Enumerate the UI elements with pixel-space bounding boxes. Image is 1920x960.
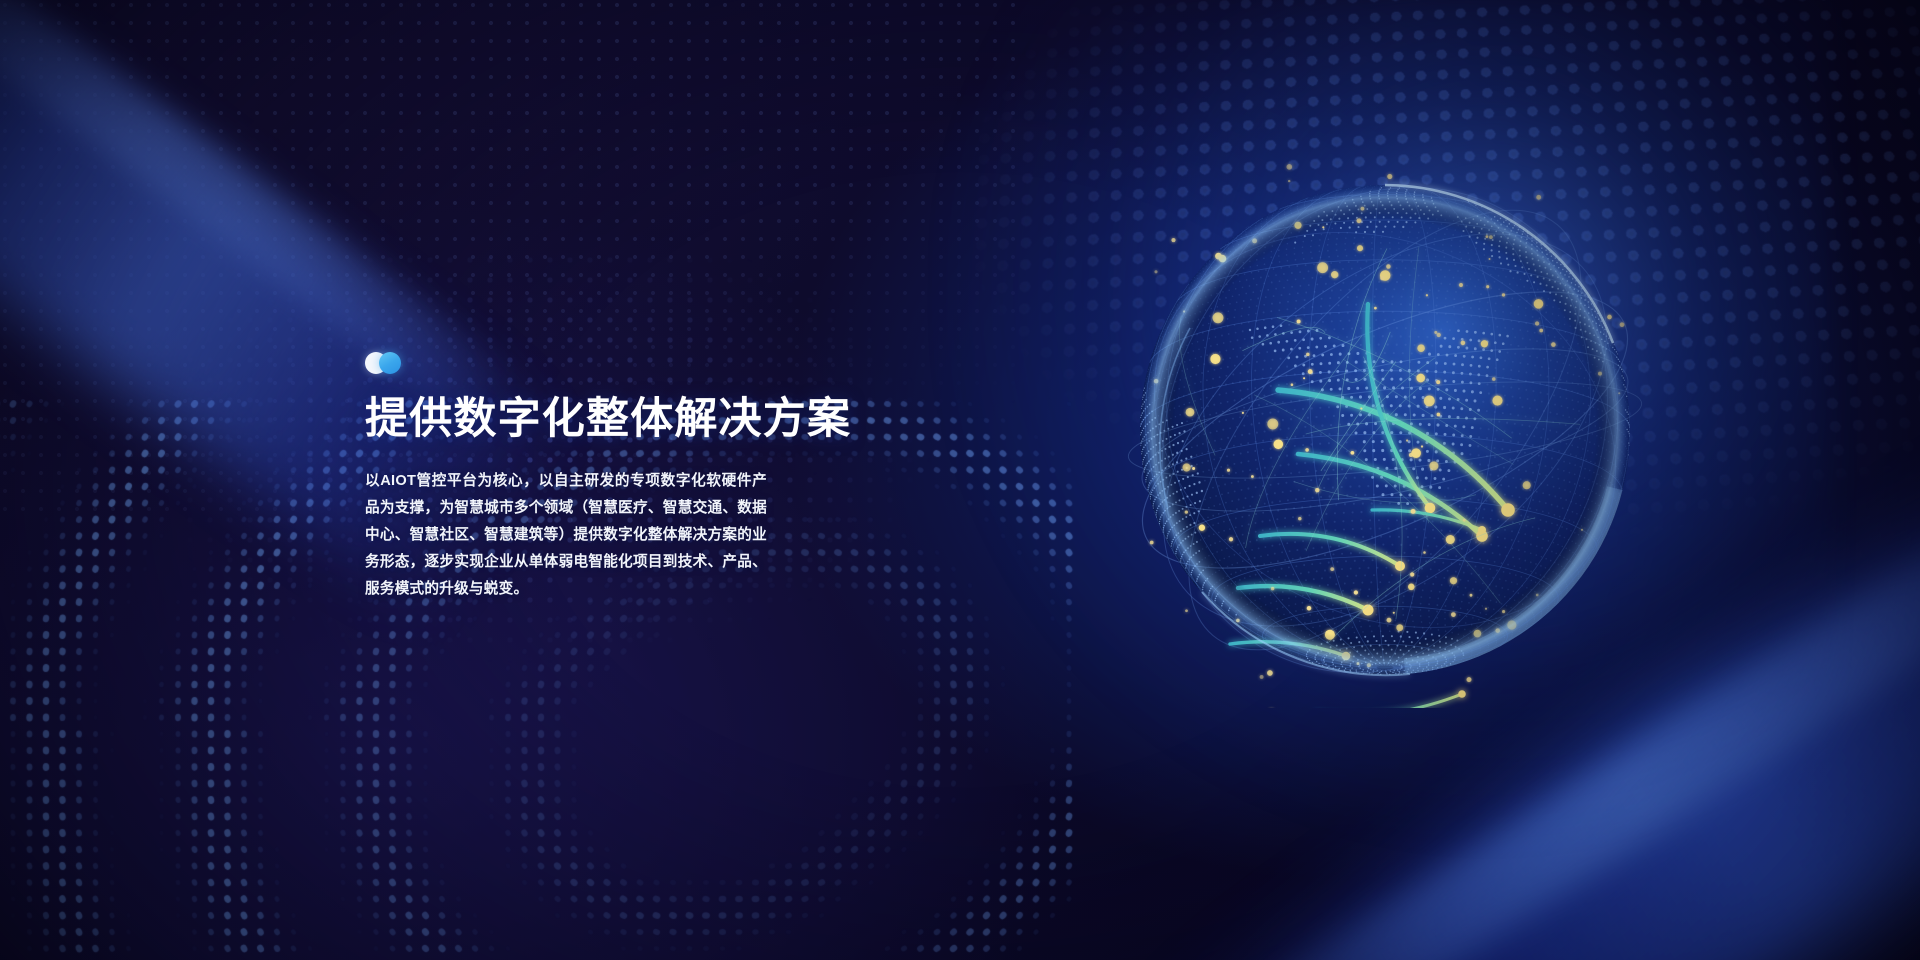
globe-outer-node-dot	[1607, 315, 1612, 320]
logo-circle-blue-icon	[379, 352, 401, 374]
hero-text-block: 提供数字化整体解决方案 以AIOT管控平台为核心，以自主研发的专项数字化软硬件产…	[365, 352, 785, 603]
hero-banner: 提供数字化整体解决方案 以AIOT管控平台为核心，以自主研发的专项数字化软硬件产…	[0, 0, 1920, 960]
globe-outer-node-dot	[1185, 609, 1188, 612]
globe-outer-node-dot	[1154, 270, 1157, 273]
dual-circle-logo-mark	[365, 352, 411, 374]
globe-container	[1110, 158, 1660, 708]
globe-outer-node-dot	[1288, 180, 1290, 182]
globe-outer-node-dot	[1286, 164, 1292, 170]
globe-outer-node-dot	[1267, 670, 1273, 676]
globe-outer-node-dot	[1620, 322, 1625, 327]
globe-rim-glow	[1140, 185, 1630, 675]
page-title: 提供数字化整体解决方案	[365, 396, 785, 442]
globe-outer-node-dot	[1171, 238, 1175, 242]
hero-description: 以AIOT管控平台为核心，以自主研发的专项数字化软硬件产品为支撑，为智慧城市多个…	[365, 468, 767, 603]
globe-connection-arc	[1316, 694, 1462, 708]
globe-outer-node-dot	[1387, 174, 1392, 179]
globe-arc-endpoint-node	[1458, 690, 1466, 698]
globe-outer-node-dot	[1260, 675, 1264, 679]
globe-outer-node-dot	[1150, 541, 1154, 545]
globe-outer-node-dot	[1536, 195, 1541, 200]
globe-outer-node-dot	[1467, 677, 1472, 682]
digital-earth-globe	[1110, 158, 1660, 708]
